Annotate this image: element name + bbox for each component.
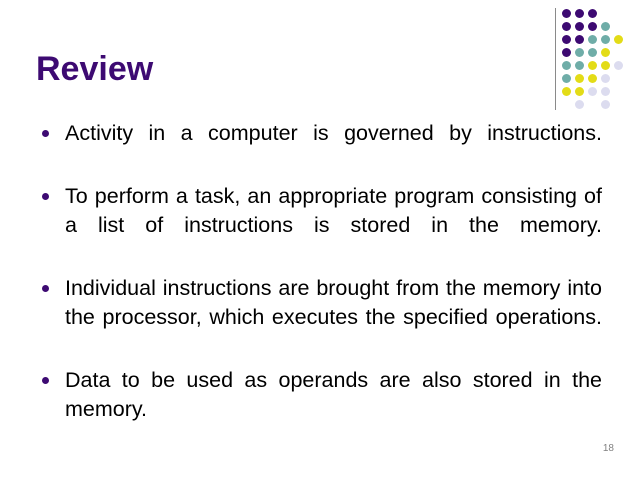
decorative-dot [601, 61, 610, 70]
decorative-dot [575, 74, 584, 83]
bullet-point-icon [42, 285, 49, 292]
decorative-dot [562, 9, 571, 18]
dot-matrix-graphic [562, 9, 638, 113]
bullet-list: Activity in a computer is governed by in… [36, 119, 602, 453]
decorative-dot [601, 35, 610, 44]
decorative-dot [562, 61, 571, 70]
page-number: 18 [603, 444, 614, 454]
list-item-label: Data to be used as operands are also sto… [65, 368, 602, 450]
decorative-dot [575, 87, 584, 96]
decorative-dot [562, 87, 571, 96]
decorative-dot [588, 22, 597, 31]
decorative-dot [614, 61, 623, 70]
decorative-dot [601, 22, 610, 31]
decorative-dot [575, 35, 584, 44]
decorative-dot [588, 74, 597, 83]
corner-decoration [548, 0, 638, 120]
decorative-dot [588, 61, 597, 70]
page-title: Review [36, 52, 153, 88]
decorative-dot [562, 35, 571, 44]
vertical-rule-divider [555, 8, 556, 110]
decorative-dot [562, 48, 571, 57]
decorative-dot [588, 87, 597, 96]
list-item: Activity in a computer is governed by in… [36, 119, 602, 177]
list-item-label: Individual instructions are brought from… [65, 276, 602, 358]
list-item: To perform a task, an appropriate progra… [36, 182, 602, 269]
list-item: Individual instructions are brought from… [36, 274, 602, 361]
bullet-point-icon [42, 377, 49, 384]
decorative-dot [601, 48, 610, 57]
decorative-dot [601, 100, 610, 109]
decorative-dot [575, 48, 584, 57]
bullet-point-icon [42, 193, 49, 200]
decorative-dot [614, 35, 623, 44]
decorative-dot [588, 48, 597, 57]
list-item-label: Activity in a computer is governed by in… [65, 121, 602, 174]
decorative-dot [575, 100, 584, 109]
decorative-dot [575, 22, 584, 31]
decorative-dot [575, 9, 584, 18]
list-item-label: To perform a task, an appropriate progra… [65, 184, 602, 266]
bullet-point-icon [42, 130, 49, 137]
decorative-dot [601, 87, 610, 96]
list-item: Data to be used as operands are also sto… [36, 366, 602, 453]
decorative-dot [588, 9, 597, 18]
decorative-dot [588, 35, 597, 44]
decorative-dot [562, 22, 571, 31]
decorative-dot [575, 61, 584, 70]
decorative-dot [601, 74, 610, 83]
decorative-dot [562, 74, 571, 83]
slide-canvas: Review Activity in a computer is governe… [0, 0, 638, 478]
